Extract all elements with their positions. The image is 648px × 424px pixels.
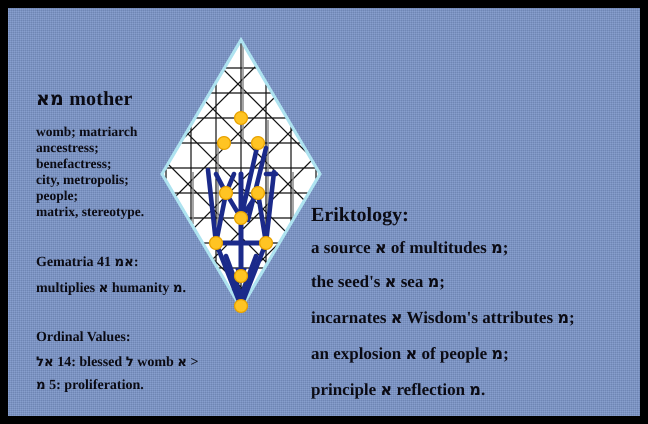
node-n6[interactable]: [235, 212, 248, 225]
entry5-glyph-b: מ: [469, 380, 481, 399]
eriktology-entry-4: an explosion א of people מ;: [311, 344, 509, 364]
left-heading: מא mother: [36, 88, 133, 111]
gematria-glyphs: אמ: [115, 255, 134, 270]
definition-line-5: people;: [36, 188, 78, 204]
entry1-glyph-b: מ: [491, 238, 503, 257]
ordinal-values-heading: Ordinal Values:: [36, 330, 131, 346]
gematria-heading: Gematria 41 אמ:: [36, 255, 139, 271]
eriktology-heading: Eriktology:: [311, 204, 409, 227]
ordinal-line-2: מ 5: proliferation.: [36, 378, 144, 394]
node-n8[interactable]: [260, 237, 273, 250]
ordinal-line1-glyph-mid: ל: [126, 355, 134, 370]
entry5-mid: reflection: [396, 380, 465, 399]
entry1-end: ;: [503, 238, 509, 257]
eriktology-entry-1: a source א of multitudes מ;: [311, 238, 508, 258]
entry4-end: ;: [503, 344, 509, 363]
eriktology-entry-5: principle א reflection מ.: [311, 380, 485, 400]
entry3-pre: incarnates: [311, 308, 387, 327]
entry3-glyph-a: א: [391, 308, 403, 327]
ordinal-line1-text: 14: blessed: [57, 355, 122, 370]
definition-line-6: matrix, stereotype.: [36, 204, 144, 220]
gematria-colon: :: [134, 255, 139, 270]
node-n9[interactable]: [235, 270, 248, 283]
ordinal-line1-glyph-end: א: [177, 355, 187, 370]
ordinal-line1-text2: womb: [137, 355, 174, 370]
entry5-end: .: [481, 380, 485, 399]
entry4-glyph-a: א: [405, 344, 417, 363]
entry5-glyph-a: א: [380, 380, 392, 399]
ordinal-line2-glyph: מ: [36, 378, 46, 393]
definition-line-1: womb; matriarch: [36, 124, 137, 140]
eriktology-entry-3: incarnates א Wisdom's attributes מ;: [311, 308, 575, 328]
entry1-pre: a source: [311, 238, 371, 257]
definition-line-4: city, metropolis;: [36, 172, 129, 188]
definition-line-2: ancestress;: [36, 140, 99, 156]
image-frame: מא mother womb; matriarch ancestress; be…: [0, 0, 648, 424]
definition-line-3: benefactress;: [36, 156, 111, 172]
gematria-detail-pre: multiplies: [36, 281, 95, 296]
entry3-mid: Wisdom's attributes: [407, 308, 554, 327]
entry2-end: ;: [439, 272, 445, 291]
diamond-lattice-diagram: [148, 24, 328, 324]
gematria-detail-glyph-a: א: [99, 281, 109, 296]
entry2-glyph-b: מ: [428, 272, 440, 291]
entry1-glyph-a: א: [375, 238, 387, 257]
eriktology-entry-2: the seed's א sea מ;: [311, 272, 445, 292]
heading-word: mother: [69, 88, 132, 110]
page-canvas: מא mother womb; matriarch ancestress; be…: [8, 8, 640, 416]
node-n1[interactable]: [235, 112, 248, 125]
entry2-glyph-a: א: [385, 272, 397, 291]
entry2-pre: the seed's: [311, 272, 380, 291]
gematria-detail-glyph-b: מ: [173, 281, 183, 296]
node-n7[interactable]: [210, 237, 223, 250]
entry3-glyph-b: מ: [557, 308, 569, 327]
entry4-glyph-b: מ: [491, 344, 503, 363]
gematria-label: Gematria 41: [36, 255, 111, 270]
entry4-mid: of people: [422, 344, 488, 363]
node-n2[interactable]: [218, 137, 231, 150]
entry3-end: ;: [569, 308, 575, 327]
heading-glyphs: מא: [36, 88, 64, 110]
ordinal-line2-text: 5: proliferation.: [49, 378, 144, 393]
ordinal-line-1: אל 14: blessed ל womb א >: [36, 355, 198, 371]
ordinal-line1-arrow: >: [190, 355, 198, 370]
gematria-detail-end: .: [183, 281, 187, 296]
entry5-pre: principle: [311, 380, 376, 399]
node-n5[interactable]: [252, 187, 265, 200]
entry2-mid: sea: [401, 272, 424, 291]
node-n3[interactable]: [252, 137, 265, 150]
ordinal-line1-glyphs: אל: [36, 355, 54, 370]
node-n4[interactable]: [220, 187, 233, 200]
node-n10[interactable]: [235, 300, 248, 313]
entry4-pre: an explosion: [311, 344, 401, 363]
gematria-detail: multiplies א humanity מ.: [36, 281, 186, 297]
entry1-mid: of multitudes: [391, 238, 487, 257]
gematria-detail-mid: humanity: [112, 281, 170, 296]
